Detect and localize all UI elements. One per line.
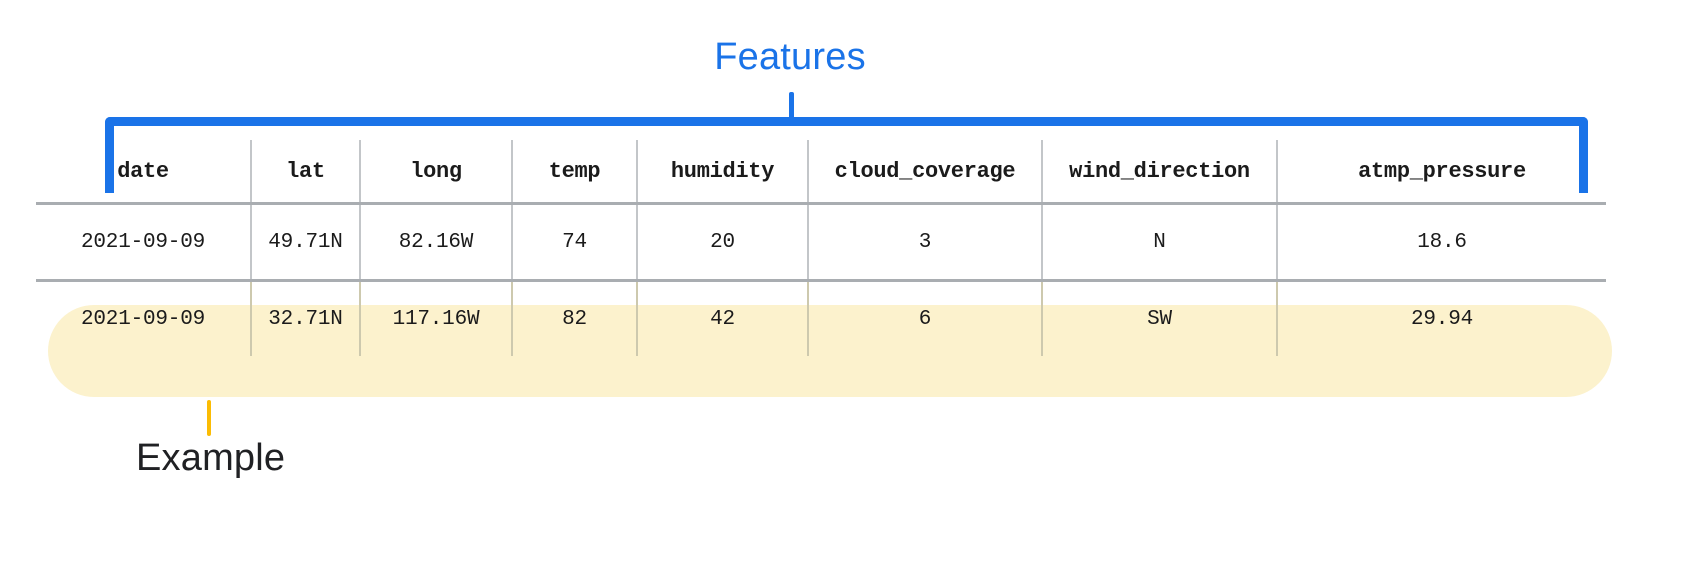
cell-cloud-coverage: 6 bbox=[808, 281, 1042, 357]
features-annotation-label: Features bbox=[0, 36, 1633, 79]
column-header-temp: temp bbox=[512, 140, 637, 204]
table-header: date lat long temp humidity cloud_covera… bbox=[36, 140, 1606, 204]
example-annotation-label: Example bbox=[136, 437, 285, 480]
features-connector-line bbox=[789, 92, 794, 122]
cell-humidity: 42 bbox=[637, 281, 808, 357]
cell-atmp-pressure: 18.6 bbox=[1277, 204, 1606, 281]
weather-data-table-container: date lat long temp humidity cloud_covera… bbox=[0, 140, 1686, 356]
table-row: 2021-09-09 49.71N 82.16W 74 20 3 N 18.6 bbox=[36, 204, 1606, 281]
cell-temp: 82 bbox=[512, 281, 637, 357]
column-header-wind-direction: wind_direction bbox=[1042, 140, 1277, 204]
table-header-row: date lat long temp humidity cloud_covera… bbox=[36, 140, 1606, 204]
cell-long: 82.16W bbox=[360, 204, 512, 281]
cell-long: 117.16W bbox=[360, 281, 512, 357]
cell-lat: 49.71N bbox=[251, 204, 360, 281]
cell-atmp-pressure: 29.94 bbox=[1277, 281, 1606, 357]
cell-humidity: 20 bbox=[637, 204, 808, 281]
column-header-date: date bbox=[36, 140, 251, 204]
cell-cloud-coverage: 3 bbox=[808, 204, 1042, 281]
cell-wind-direction: SW bbox=[1042, 281, 1277, 357]
cell-date: 2021-09-09 bbox=[36, 204, 251, 281]
cell-temp: 74 bbox=[512, 204, 637, 281]
table-body: 2021-09-09 49.71N 82.16W 74 20 3 N 18.6 … bbox=[36, 204, 1606, 357]
column-header-long: long bbox=[360, 140, 512, 204]
column-header-humidity: humidity bbox=[637, 140, 808, 204]
cell-lat: 32.71N bbox=[251, 281, 360, 357]
cell-date: 2021-09-09 bbox=[36, 281, 251, 357]
cell-wind-direction: N bbox=[1042, 204, 1277, 281]
table-row-highlighted: 2021-09-09 32.71N 117.16W 82 42 6 SW 29.… bbox=[36, 281, 1606, 357]
column-header-atmp-pressure: atmp_pressure bbox=[1277, 140, 1606, 204]
weather-data-table: date lat long temp humidity cloud_covera… bbox=[36, 140, 1606, 356]
column-header-lat: lat bbox=[251, 140, 360, 204]
column-header-cloud-coverage: cloud_coverage bbox=[808, 140, 1042, 204]
example-connector-line bbox=[207, 400, 211, 436]
